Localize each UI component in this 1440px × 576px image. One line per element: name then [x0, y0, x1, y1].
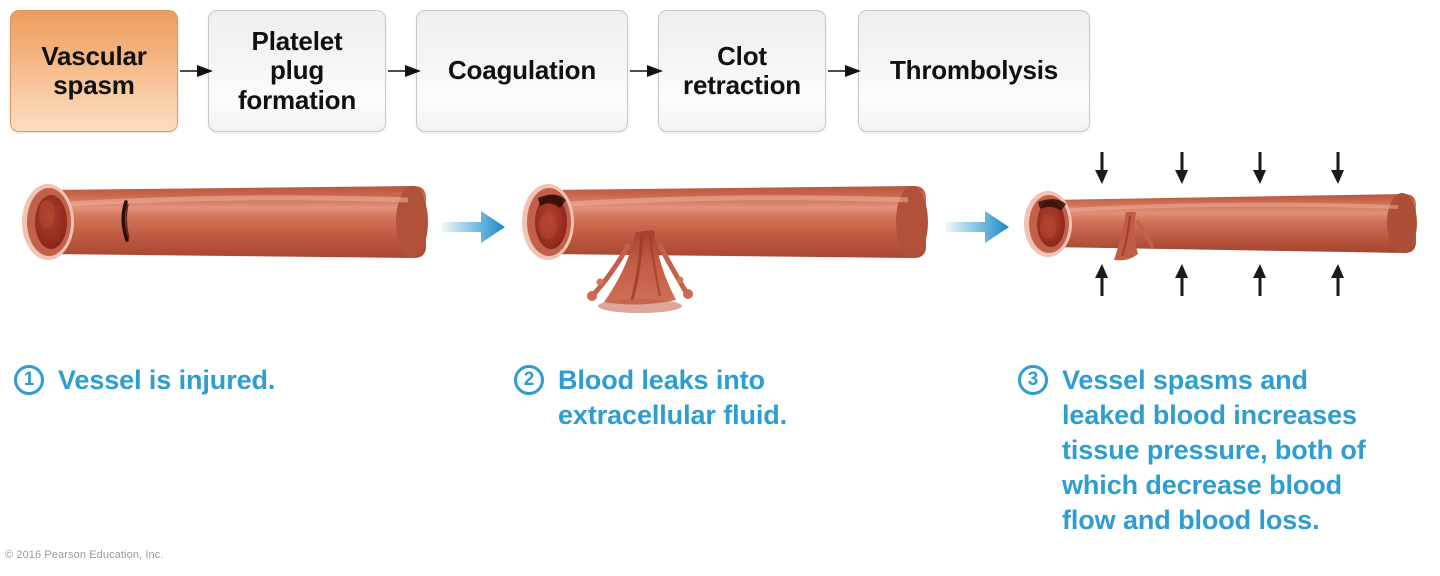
caption-step-2: 2 Blood leaks into extracellular fluid.	[514, 363, 984, 433]
compression-arrow-up	[1331, 264, 1344, 296]
compression-arrow-up	[1253, 264, 1266, 296]
flow-box-thrombolysis[interactable]: Thrombolysis	[858, 10, 1090, 132]
compression-arrow-up	[1175, 264, 1188, 296]
caption-step-1: 1 Vessel is injured.	[14, 363, 474, 398]
compression-arrow-down	[1331, 152, 1344, 184]
flow-box-label: Coagulation	[438, 56, 606, 85]
copyright-notice: © 2016 Pearson Education, Inc.	[5, 549, 163, 561]
step-number-circle: 2	[514, 365, 544, 395]
vessel-illustration-injured	[8, 150, 438, 365]
flow-box-label: Clot retraction	[673, 42, 811, 100]
compression-arrow-up	[1095, 264, 1108, 296]
right-arrow-icon	[630, 63, 664, 79]
flow-box-vascular-spasm[interactable]: Vascular spasm	[10, 10, 178, 132]
step-captions: 1 Vessel is injured. 2 Blood leaks into …	[0, 363, 1440, 548]
flow-box-platelet-plug-formation[interactable]: Platelet plug formation	[208, 10, 386, 132]
step-number-circle: 3	[1018, 365, 1048, 395]
flow-box-label: Thrombolysis	[880, 56, 1068, 85]
flow-box-coagulation[interactable]: Coagulation	[416, 10, 628, 132]
blue-right-arrow-icon	[945, 204, 1011, 250]
compression-arrow-down	[1095, 152, 1108, 184]
caption-text: Vessel is injured.	[58, 363, 275, 398]
flow-box-label: Vascular spasm	[31, 42, 156, 100]
flow-box-clot-retraction[interactable]: Clot retraction	[658, 10, 826, 132]
caption-text: Blood leaks into extracellular fluid.	[558, 363, 787, 433]
compression-arrow-down	[1253, 152, 1266, 184]
step-number-circle: 1	[14, 365, 44, 395]
right-arrow-icon	[388, 63, 422, 79]
caption-text: Vessel spasms and leaked blood increases…	[1062, 363, 1366, 538]
right-arrow-icon	[180, 63, 214, 79]
illustration-panels	[0, 150, 1440, 365]
right-arrow-icon	[828, 63, 862, 79]
vessel-illustration-spasm	[1012, 150, 1430, 365]
compression-arrow-down	[1175, 152, 1188, 184]
flow-box-label: Platelet plug formation	[228, 27, 366, 114]
panel-vessel-bleeding	[508, 150, 938, 365]
panel-vessel-injured	[8, 150, 438, 365]
caption-step-3: 3 Vessel spasms and leaked blood increas…	[1018, 363, 1438, 538]
blue-right-arrow-icon	[441, 204, 507, 250]
process-flowchart: Vascular spasm Platelet plug formation C…	[0, 0, 1440, 150]
vessel-illustration-bleeding	[508, 150, 938, 365]
panel-vessel-spasm	[1012, 150, 1430, 365]
